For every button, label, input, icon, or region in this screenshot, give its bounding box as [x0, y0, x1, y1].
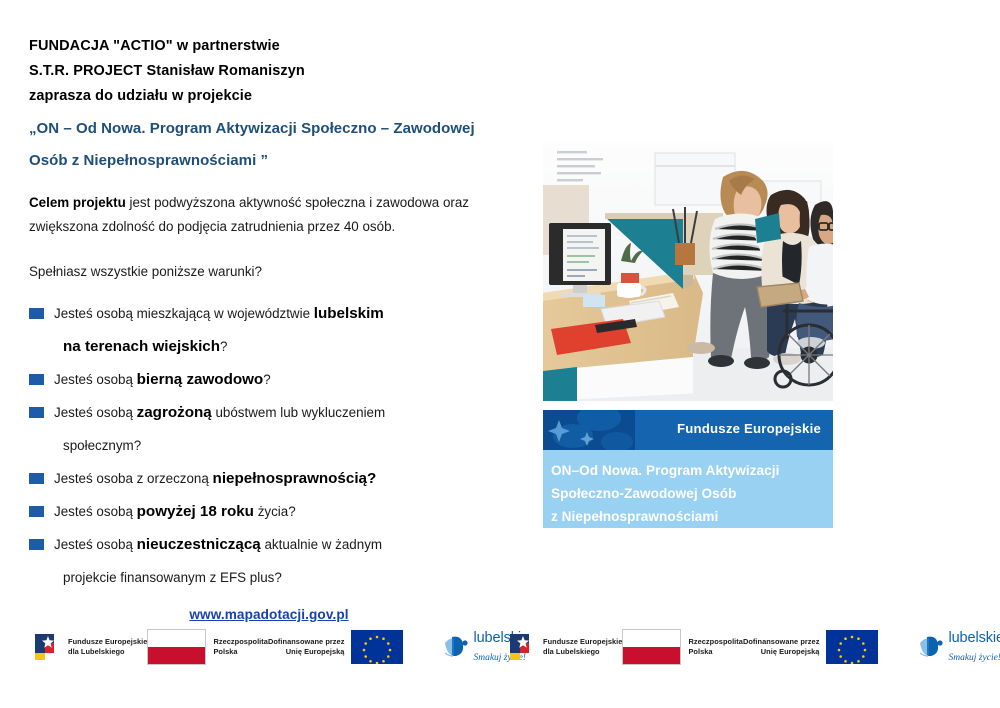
condition-continuation: społecznym?	[54, 429, 519, 462]
office-photo	[543, 143, 833, 401]
fe-caption: Fundusze Europejskie dla Lubelskiego	[543, 637, 622, 658]
fe-caption-line-1: Fundusze Europejskie	[68, 637, 147, 646]
fe-caption: Fundusze Europejskie dla Lubelskiego	[68, 637, 147, 658]
project-title-line-2: Osób z Niepełnosprawnościami ”	[29, 148, 519, 173]
organiser-line-1: FUNDACJA "ACTIO" w partnerstwie	[29, 34, 519, 59]
fundusze-europejskie-logo: Fundusze Europejskie dla Lubelskiego	[32, 632, 147, 662]
square-bullet-icon	[29, 308, 44, 319]
lubelskie-mark-icon	[918, 634, 945, 661]
organiser-heading: FUNDACJA "ACTIO" w partnerstwie S.T.R. P…	[29, 34, 519, 109]
footer-logo-strip: Fundusze Europejskie dla Lubelskiego Rze…	[507, 618, 982, 676]
condition-text-strong: bierną zawodowo	[137, 371, 264, 388]
pl-caption-line-1: Rzeczpospolita	[688, 637, 743, 646]
condition-text-post: aktualnie w żadnym	[261, 537, 382, 552]
project-title-line-1: „ON – Od Nowa. Program Aktywizacji Społe…	[29, 116, 519, 141]
condition-text-post: ?	[263, 372, 270, 387]
eu-caption-line-1: Dofinansowane przez	[268, 637, 345, 646]
condition-text-pre: Jesteś osoba z orzeczoną	[54, 471, 213, 486]
condition-item: Jesteś osobą powyżej 18 roku życia?	[29, 495, 519, 528]
fundusze-europejskie-logo: Fundusze Europejskie dla Lubelskiego	[507, 632, 622, 662]
condition-continuation: projekcie finansowanym z EFS plus?	[54, 561, 519, 594]
eu-flag-icon	[351, 630, 403, 664]
condition-cont-pre: na terenach	[63, 338, 152, 355]
fe-caption-line-2: dla Lubelskiego	[543, 647, 600, 656]
poland-flag-icon	[622, 629, 681, 665]
lubelskie-slogan: Smakuj życie!	[948, 653, 1000, 663]
fundusze-europejskie-icon	[32, 632, 62, 662]
poland-flag-icon	[147, 629, 206, 665]
banner-line-1: ON–Od Nowa. Program Aktywizacji	[551, 459, 827, 482]
square-bullet-icon	[29, 506, 44, 517]
condition-text-strong: lubelskim	[314, 305, 384, 322]
banner-fe-title: Fundusze Europejskie	[677, 421, 821, 436]
office-photo-graphic	[543, 143, 833, 401]
lubelskie-logo: lubelskie Smakuj życie!	[918, 629, 1000, 665]
eu-flag-icon	[826, 630, 878, 664]
flag-red-band	[623, 647, 680, 664]
condition-text-pre: Jesteś osobą	[54, 504, 137, 519]
pl-caption: Rzeczpospolita Polska	[213, 637, 268, 658]
fe-caption-line-1: Fundusze Europejskie	[543, 637, 622, 646]
condition-cont-post: ?	[220, 339, 227, 354]
condition-text-pre: Jesteś osobą	[54, 372, 137, 387]
flag-white-band	[623, 630, 680, 647]
eu-caption: Dofinansowane przez Unię Europejską	[743, 637, 820, 658]
eu-caption-line-2: Unię Europejską	[761, 647, 820, 656]
banner-body: ON–Od Nowa. Program Aktywizacji Społeczn…	[543, 450, 833, 528]
goal-label: Celem projektu	[29, 195, 126, 210]
lubelskie-text: lubelskie Smakuj życie!	[948, 629, 1000, 665]
conditions-list: Jesteś osobą mieszkającą w województwie …	[29, 297, 519, 594]
footer-logos: Fundusze Europejskie dla Lubelskiego Rze…	[0, 618, 1000, 676]
left-content-column: FUNDACJA "ACTIO" w partnerstwie S.T.R. P…	[29, 34, 519, 624]
lubelskie-mark-icon	[443, 634, 470, 661]
condition-text-post: ubóstwem lub wykluczeniem	[212, 405, 385, 420]
pl-caption-line-2: Polska	[213, 647, 237, 656]
project-title: „ON – Od Nowa. Program Aktywizacji Społe…	[29, 116, 519, 173]
flag-red-band	[148, 647, 205, 664]
conditions-lead: Spełniasz wszystkie poniższe warunki?	[29, 261, 519, 283]
condition-text-post: życia?	[254, 504, 296, 519]
eu-caption-line-1: Dofinansowane przez	[743, 637, 820, 646]
square-bullet-icon	[29, 539, 44, 550]
condition-item: Jesteś osoba z orzeczoną niepełnosprawno…	[29, 462, 519, 495]
banner-line-3: z Niepełnosprawnościami	[551, 505, 827, 528]
condition-text-strong: nieuczestniczącą	[137, 536, 261, 553]
condition-item: Jesteś osobą zagrożoną ubóstwem lub wykl…	[29, 396, 519, 462]
organiser-line-2: S.T.R. PROJECT Stanisław Romaniszyn	[29, 59, 519, 84]
eu-caption-line-2: Unię Europejską	[286, 647, 345, 656]
condition-item: Jesteś osobą mieszkającą w województwie …	[29, 297, 519, 363]
organiser-line-3: zaprasza do udziału w projekcie	[29, 84, 519, 109]
eu-caption: Dofinansowane przez Unię Europejską	[268, 637, 345, 658]
fe-caption-line-2: dla Lubelskiego	[68, 647, 125, 656]
condition-item: Jesteś osobą nieuczestniczącą aktualnie …	[29, 528, 519, 594]
condition-text-pre: Jesteś osobą	[54, 537, 137, 552]
pl-caption-line-1: Rzeczpospolita	[213, 637, 268, 646]
pl-caption: Rzeczpospolita Polska	[688, 637, 743, 658]
condition-cont-strong: wiejskich	[152, 338, 220, 355]
condition-text-pre: Jesteś osobą mieszkającą w województwie	[54, 306, 314, 321]
square-bullet-icon	[29, 473, 44, 484]
square-bullet-icon	[29, 407, 44, 418]
banner-header: Fundusze Europejskie	[543, 410, 833, 450]
lubelskie-name: lubelskie	[948, 630, 1000, 646]
dofinansowane-ue-logo: Dofinansowane przez Unię Europejską	[743, 630, 879, 664]
rzeczpospolita-polska-logo: Rzeczpospolita Polska	[622, 629, 743, 665]
pl-caption-line-2: Polska	[688, 647, 712, 656]
square-bullet-icon	[29, 374, 44, 385]
condition-text-pre: Jesteś osobą	[54, 405, 137, 420]
project-goal-paragraph: Celem projektu jest podwyższona aktywnoś…	[29, 191, 469, 239]
condition-item: Jesteś osobą bierną zawodowo?	[29, 363, 519, 396]
condition-text-strong: powyżej 18 roku	[137, 503, 254, 520]
poster-page: FUNDACJA "ACTIO" w partnerstwie S.T.R. P…	[0, 0, 1000, 708]
flag-white-band	[148, 630, 205, 647]
rzeczpospolita-polska-logo: Rzeczpospolita Polska	[147, 629, 268, 665]
banner-line-2: Społeczno-Zawodowej Osób	[551, 482, 827, 505]
condition-continuation: na terenach wiejskich?	[54, 330, 519, 363]
project-banner: Fundusze Europejskie ON–Od Nowa. Program…	[543, 410, 833, 528]
footer-logo-strip: Fundusze Europejskie dla Lubelskiego Rze…	[32, 618, 507, 676]
fe-stars-decoration-icon	[543, 410, 635, 450]
dofinansowane-ue-logo: Dofinansowane przez Unię Europejską	[268, 630, 404, 664]
condition-text-strong: zagrożoną	[137, 404, 212, 421]
fundusze-europejskie-icon	[507, 632, 537, 662]
condition-text-strong: niepełnosprawnością?	[213, 470, 377, 487]
